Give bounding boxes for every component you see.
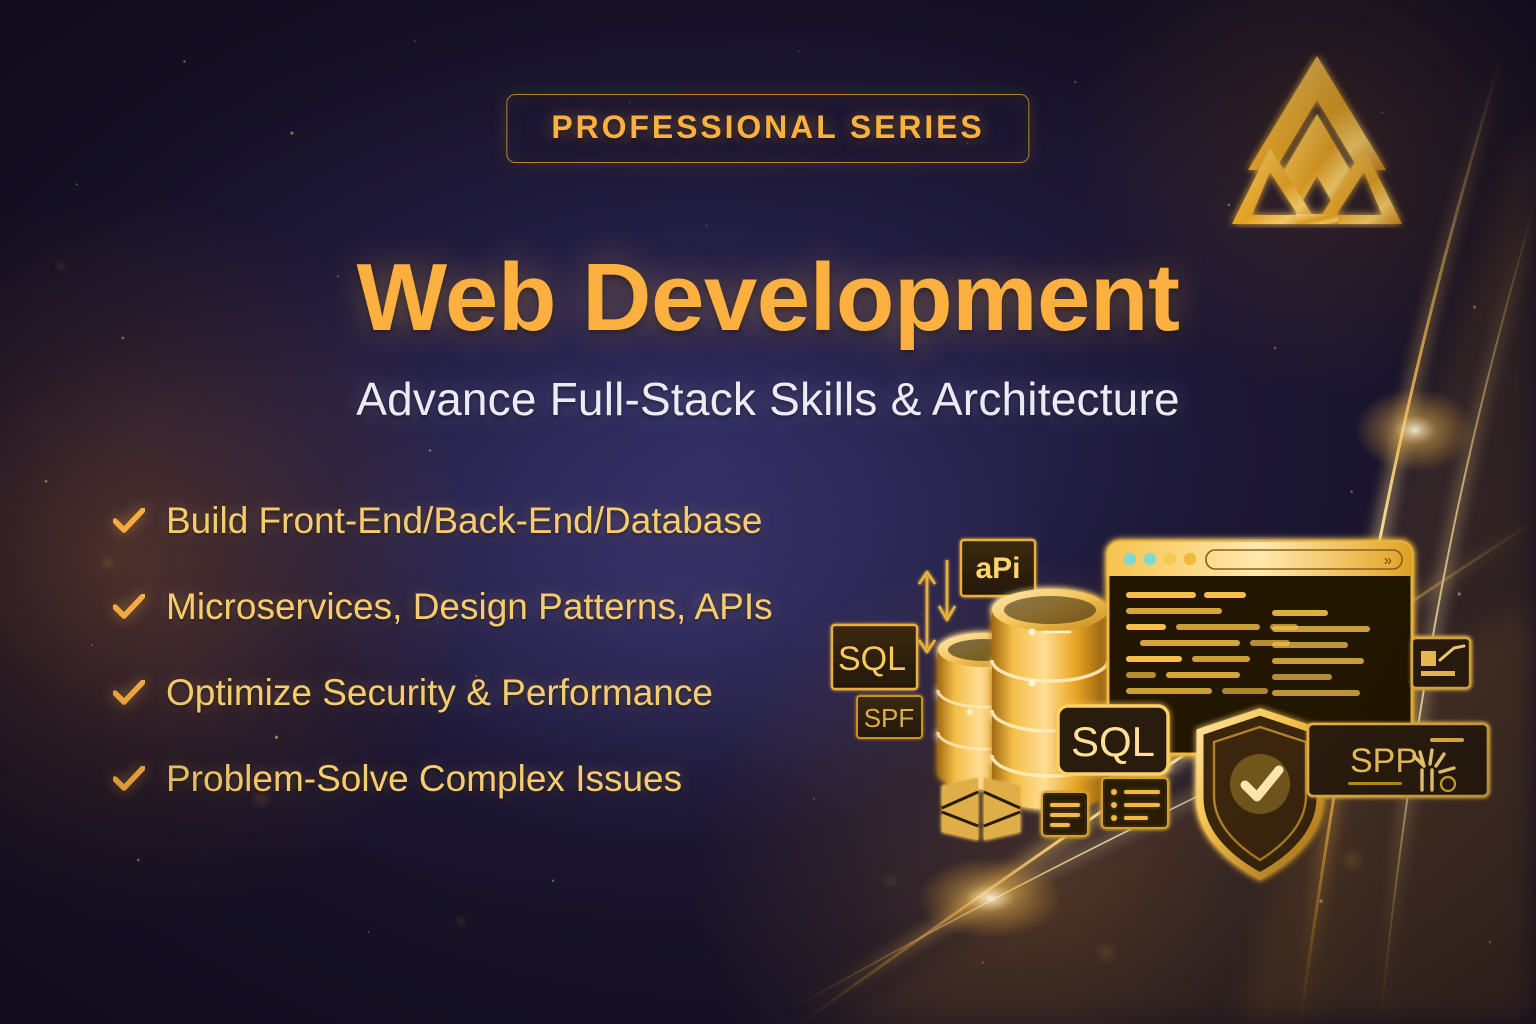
list-item-label: Optimize Security & Performance [166, 672, 713, 714]
list-item-label: Problem-Solve Complex Issues [166, 758, 682, 800]
chart-card-icon [1412, 638, 1470, 688]
triangle-emblem-icon [1226, 52, 1408, 228]
spf-label: SPF [864, 703, 915, 733]
chevron-right-icon: » [1384, 552, 1392, 569]
sql-tag-label: SQL [1071, 718, 1155, 765]
security-shield-check [1200, 712, 1320, 876]
spf-label-box: SPF [857, 696, 922, 738]
sql-label: SQL [838, 640, 906, 678]
list-item-label: Microservices, Design Patterns, APIs [166, 586, 773, 628]
sql-label-box: SQL [832, 625, 917, 689]
database-cylinder-large [992, 589, 1108, 809]
list-item-label: Build Front-End/Back-End/Database [166, 500, 762, 542]
list-item: Microservices, Design Patterns, APIs [112, 582, 912, 632]
spp-label-box: SPP [1308, 724, 1488, 796]
check-icon [112, 594, 146, 620]
check-icon [112, 508, 146, 534]
badge-label: PROFESSIONAL SERIES [551, 109, 984, 146]
feature-list: Build Front-End/Back-End/Database Micros… [112, 496, 912, 840]
check-icon [112, 766, 146, 792]
sql-tag: SQL [1058, 706, 1168, 774]
check-icon [112, 680, 146, 706]
api-label: aPi [975, 552, 1020, 585]
page-title: Web Development [0, 243, 1536, 353]
page-subtitle: Advance Full-Stack Skills & Architecture [0, 372, 1536, 426]
brand-logo [1226, 52, 1408, 228]
course-promo-poster: PROFESSIONAL SERIES Web Development Adva… [0, 0, 1536, 1024]
professional-series-badge: PROFESSIONAL SERIES [506, 94, 1029, 163]
tech-stack-illustration: aPi SQL SPF [820, 520, 1520, 900]
api-label-box: aPi [961, 540, 1035, 596]
list-item: Build Front-End/Back-End/Database [112, 496, 912, 546]
spp-label: SPP [1350, 742, 1418, 780]
list-item: Optimize Security & Performance [112, 668, 912, 718]
list-item: Problem-Solve Complex Issues [112, 754, 912, 804]
